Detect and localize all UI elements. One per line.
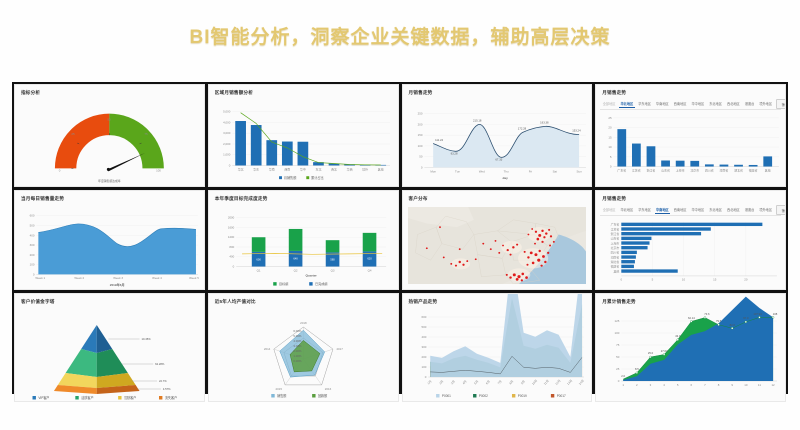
svg-text:山东省: 山东省 xyxy=(661,167,670,172)
dashboard-screenshot: BI智能分析，洞察企业关键数据，辅助高层决策 指标分析 0 25 50 75 1… xyxy=(0,0,800,430)
legend: P0001 P0002 P0019 P0017 xyxy=(436,394,566,398)
svg-text:华西: 华西 xyxy=(346,166,352,171)
svg-text:Fri: Fri xyxy=(528,169,532,173)
svg-text:华中: 华中 xyxy=(300,166,306,171)
tab-active[interactable]: 华北地区 xyxy=(619,100,635,108)
x-axis-label: Quarter xyxy=(305,273,317,277)
svg-text:江苏省: 江苏省 xyxy=(611,226,620,231)
svg-text:10: 10 xyxy=(682,278,686,282)
svg-text:0.00%: 0.00% xyxy=(293,359,301,363)
svg-text:580: 580 xyxy=(330,258,335,262)
svg-text:25.0: 25.0 xyxy=(648,351,654,355)
svg-text:上海市: 上海市 xyxy=(676,167,685,172)
svg-text:9: 9 xyxy=(732,383,734,387)
svg-text:600: 600 xyxy=(30,214,35,218)
svg-text:8: 8 xyxy=(718,383,720,387)
product-area-chart: 0 100 200 300 400 500 600 xyxy=(403,309,592,401)
dashboard-grid: 指标分析 0 25 50 75 100 年度销售额达成率 xyxy=(12,82,788,394)
tab-gangaotai[interactable]: 港澳台 xyxy=(743,206,756,214)
svg-text:境外: 境外 xyxy=(362,166,368,171)
svg-text:4: 4 xyxy=(664,383,666,387)
svg-text:3: 3 xyxy=(650,383,652,387)
panel-title: 月销售走势 xyxy=(409,90,433,96)
svg-text:2.00%: 2.00% xyxy=(293,349,301,353)
cumulative-area-chart: 0 25 50 75 100 125 xyxy=(596,309,785,401)
svg-text:6: 6 xyxy=(691,383,693,387)
panel-title: 月销售走势 xyxy=(602,90,626,96)
bars xyxy=(618,129,773,166)
xticks: 1 2 3 4 5 6 7 8 9 10 11 12 xyxy=(623,383,776,387)
svg-text:4.57%: 4.57% xyxy=(163,387,171,391)
svg-text:6月: 6月 xyxy=(484,379,490,385)
svg-text:10: 10 xyxy=(609,145,613,149)
svg-text:华北: 华北 xyxy=(237,166,243,171)
bar-value-labels: 600 640 580 620 xyxy=(256,257,372,262)
svg-text:2018: 2018 xyxy=(300,321,307,325)
tab-dongbei[interactable]: 东北地区 xyxy=(708,100,724,108)
cumulative-line xyxy=(240,113,380,165)
svg-text:6.00%: 6.00% xyxy=(293,329,301,333)
svg-text:400: 400 xyxy=(421,335,426,339)
svg-text:福建省: 福建省 xyxy=(749,167,758,172)
svg-text:172.28: 172.28 xyxy=(517,126,526,130)
panel-title: 客户价值金字塔 xyxy=(21,299,55,305)
panel-pyramid[interactable]: 客户价值金字塔 xyxy=(14,293,205,402)
panel-title: 客户分布 xyxy=(409,196,428,202)
svg-text:9月: 9月 xyxy=(519,379,525,385)
x-axis-label: 2019年6月 xyxy=(110,282,125,287)
svg-text:82.0: 82.0 xyxy=(730,323,736,327)
panel-title: 指标分析 xyxy=(21,90,40,96)
tab-gangaotai[interactable]: 港澳台 xyxy=(743,100,756,108)
svg-text:22.7%: 22.7% xyxy=(159,379,167,383)
panel-product-area[interactable]: 热销产品走势 0 100 200 300 400 500 600 xyxy=(402,293,593,402)
svg-text:Q1: Q1 xyxy=(256,268,260,272)
filter-button[interactable]: 筛选 xyxy=(776,99,786,109)
svg-text:67.33: 67.33 xyxy=(495,158,502,162)
svg-text:11月: 11月 xyxy=(542,379,549,386)
gauge-tick-100: 100 xyxy=(156,168,161,172)
tab-xibei[interactable]: 西北地区 xyxy=(726,206,742,214)
series-target xyxy=(623,297,773,381)
svg-text:东北: 东北 xyxy=(315,166,321,171)
svg-text:上海市: 上海市 xyxy=(611,240,620,245)
stacked-bars xyxy=(252,229,377,267)
region-filter-tabs[interactable]: 全部地区 华北地区 华东地区 华南地区 西南地区 华中地区 东北地区 西北地区 … xyxy=(600,99,781,110)
panel-title: 近5年人均产值对比 xyxy=(215,299,256,305)
svg-text:其他: 其他 xyxy=(614,268,620,273)
svg-text:4.00%: 4.00% xyxy=(293,339,301,343)
svg-text:2017: 2017 xyxy=(336,347,343,351)
svg-text:500: 500 xyxy=(30,224,35,228)
xticks: 广东省 江苏省 浙江省 山东省 上海市 北京市 四川省 河南省 湖北省 福建省 … xyxy=(618,167,771,172)
svg-text:500: 500 xyxy=(421,325,426,329)
svg-text:1600: 1600 xyxy=(228,225,235,229)
svg-text:1.00%: 1.00% xyxy=(293,354,301,358)
svg-text:150: 150 xyxy=(417,133,422,137)
tab-xinan[interactable]: 西南地区 xyxy=(672,100,688,108)
legend: VIP客户 活跃客户 沉默客户 流失客户 xyxy=(33,395,178,400)
tab-xibei[interactable]: 西北地区 xyxy=(726,100,742,108)
svg-text:2000: 2000 xyxy=(228,216,235,220)
svg-text:广东省: 广东省 xyxy=(618,167,627,172)
svg-text:200: 200 xyxy=(30,253,35,257)
panel-title: 区域月销售额分析 xyxy=(215,90,253,96)
x-axis-label: day xyxy=(502,176,508,180)
svg-text:3月: 3月 xyxy=(449,379,455,385)
svg-text:Week 2: Week 2 xyxy=(74,276,84,280)
svg-text:107.94: 107.94 xyxy=(754,312,763,316)
svg-text:4月: 4月 xyxy=(461,379,467,385)
svg-text:0: 0 xyxy=(618,379,620,383)
svg-text:73.6: 73.6 xyxy=(705,312,711,316)
svg-text:200: 200 xyxy=(417,122,422,126)
week-area-chart: 0 100 200 300 400 500 600 Week 1 Week 2 … xyxy=(15,206,204,289)
svg-text:97.0: 97.0 xyxy=(743,316,749,320)
svg-text:湖北省: 湖北省 xyxy=(611,259,620,264)
svg-text:15: 15 xyxy=(609,135,613,139)
tab-huazhong[interactable]: 华中地区 xyxy=(690,100,706,108)
china-scatter-map[interactable] xyxy=(408,207,587,284)
panel-region-pareto[interactable]: 区域月销售额分析 0 1,000 2,000 3,000 4,000 5,000 xyxy=(208,84,399,187)
svg-text:2016: 2016 xyxy=(325,387,332,391)
svg-text:10月: 10月 xyxy=(531,379,538,386)
gauge-tick-75: 75 xyxy=(144,132,148,136)
svg-text:P0017: P0017 xyxy=(556,394,565,398)
panel-city-bars[interactable]: 月销售走势 全部地区 华北地区 华东地区 华南地区 西南地区 华中地区 东北地区… xyxy=(595,84,786,187)
svg-text:7月: 7月 xyxy=(496,379,502,385)
svg-text:620: 620 xyxy=(367,257,372,261)
svg-text:100: 100 xyxy=(30,263,35,267)
ytick: 1,000 xyxy=(223,153,231,157)
tab-all[interactable]: 全部地区 xyxy=(601,100,617,108)
svg-text:0: 0 xyxy=(424,375,426,379)
svg-text:累计占比: 累计占比 xyxy=(311,175,323,180)
svg-text:月销售额: 月销售额 xyxy=(284,175,297,180)
svg-text:8月: 8月 xyxy=(508,379,514,385)
svg-text:15: 15 xyxy=(713,278,717,282)
tab-huadong[interactable]: 华东地区 xyxy=(637,206,653,214)
svg-text:山东省: 山东省 xyxy=(611,236,620,241)
svg-text:75: 75 xyxy=(616,343,620,347)
svg-text:2月: 2月 xyxy=(438,379,444,385)
panel-title: 月累计销售走势 xyxy=(602,299,636,305)
ytick: 0 xyxy=(229,163,231,167)
tab-xinan[interactable]: 西南地区 xyxy=(672,206,688,214)
gauge-tick-0: 0 xyxy=(59,168,61,172)
svg-text:10.45%: 10.45% xyxy=(141,337,151,341)
xticks: 1月 2月 3月 4月 5月 6月 7月 8月 9月 10月 11月 12月 1… xyxy=(426,379,584,386)
tab-huazhong[interactable]: 华中地区 xyxy=(690,206,706,214)
quarter-stacked-chart: 0 400 800 1200 1600 2000 xyxy=(209,206,398,289)
svg-text:1: 1 xyxy=(623,383,625,387)
panel-week-area[interactable]: 当月每日销售量走势 0 100 200 300 400 500 600 xyxy=(14,190,205,290)
svg-text:Thu: Thu xyxy=(503,169,508,173)
svg-text:华东: 华东 xyxy=(253,166,259,171)
svg-text:100: 100 xyxy=(421,365,426,369)
svg-text:VIP客户: VIP客户 xyxy=(38,395,49,400)
svg-text:西南: 西南 xyxy=(284,166,290,171)
svg-text:0: 0 xyxy=(621,278,623,282)
panel-gauge[interactable]: 指标分析 0 25 50 75 100 年度销售额达成率 xyxy=(14,84,205,187)
svg-text:其他: 其他 xyxy=(765,167,771,172)
svg-text:3.00%: 3.00% xyxy=(293,344,301,348)
svg-text:50: 50 xyxy=(419,155,423,159)
svg-text:640: 640 xyxy=(293,257,298,261)
svg-text:Week 3: Week 3 xyxy=(113,276,123,280)
svg-text:沉默客户: 沉默客户 xyxy=(124,395,136,400)
svg-text:Q2: Q2 xyxy=(293,268,297,272)
gauge-tick-50: 50 xyxy=(107,118,111,122)
ytick: 3,000 xyxy=(223,131,231,135)
svg-text:已完成额: 已完成额 xyxy=(315,281,328,286)
svg-text:0: 0 xyxy=(232,265,234,269)
filter-button[interactable]: 筛选 xyxy=(776,205,786,215)
svg-text:2014: 2014 xyxy=(264,347,271,351)
radar-chart: 6.00% 5.00% 4.00% 3.00% 2.00% 1.00% 0.00… xyxy=(209,309,398,401)
tab-dongbei[interactable]: 东北地区 xyxy=(708,206,724,214)
svg-text:回款额: 回款额 xyxy=(318,393,328,398)
svg-text:25: 25 xyxy=(616,367,620,371)
svg-text:浙江省: 浙江省 xyxy=(611,231,620,236)
svg-text:Q3: Q3 xyxy=(330,268,334,272)
svg-text:Tue: Tue xyxy=(455,169,460,173)
svg-text:2: 2 xyxy=(636,383,638,387)
panel-customer-map[interactable]: 客户分布 xyxy=(402,190,593,290)
svg-text:5月: 5月 xyxy=(473,379,479,385)
svg-text:四川省: 四川省 xyxy=(705,167,714,172)
radial-ticks: 6.00% 5.00% 4.00% 3.00% 2.00% 1.00% 0.00… xyxy=(293,329,301,363)
xticks: 0 5 10 15 20 xyxy=(621,278,748,282)
svg-text:Q4: Q4 xyxy=(367,268,371,272)
svg-text:62.14: 62.14 xyxy=(688,316,695,320)
svg-text:400: 400 xyxy=(30,233,35,237)
svg-text:200: 200 xyxy=(421,355,426,359)
ytick: 2,000 xyxy=(223,142,231,146)
svg-text:P0002: P0002 xyxy=(478,394,487,398)
legend: 销售额 回款额 xyxy=(271,393,328,398)
svg-text:广东省: 广东省 xyxy=(611,222,620,227)
legend: 目标额 已完成额 xyxy=(273,281,328,286)
svg-text:125: 125 xyxy=(615,319,620,323)
svg-text:Sat: Sat xyxy=(552,169,557,173)
bars xyxy=(235,121,386,165)
tab-huanan[interactable]: 华南地区 xyxy=(655,100,671,108)
gauge-label: 年度销售额达成率 xyxy=(98,179,121,183)
svg-text:江苏省: 江苏省 xyxy=(632,167,641,172)
svg-text:北京市: 北京市 xyxy=(691,167,700,172)
svg-text:流失客户: 流失客户 xyxy=(165,395,177,400)
svg-text:目标额: 目标额 xyxy=(279,281,289,286)
svg-text:其他: 其他 xyxy=(378,166,384,171)
svg-text:12: 12 xyxy=(772,383,776,387)
svg-text:300: 300 xyxy=(30,243,35,247)
panel-province-hbar[interactable]: 月销售走势 全部地区 华北地区 华东地区 华南地区 西南地区 华中地区 东北地区… xyxy=(595,190,786,290)
trend-line-chart: 0 50 100 150 200 250 111.24 93.28 215.18… xyxy=(403,100,592,186)
svg-text:250: 250 xyxy=(417,112,422,116)
panel-cumulative[interactable]: 月累计销售走势 0 25 50 75 100 125 xyxy=(595,293,786,402)
svg-text:活跃客户: 活跃客户 xyxy=(81,395,93,400)
svg-text:600: 600 xyxy=(256,258,261,262)
svg-text:600: 600 xyxy=(421,315,426,319)
svg-text:10: 10 xyxy=(744,383,748,387)
svg-text:108: 108 xyxy=(773,312,778,316)
svg-text:12月: 12月 xyxy=(554,379,561,386)
xticks: Mon Tue Wed Thu Fri Sat Sun xyxy=(430,169,582,173)
panel-title: 热销产品走势 xyxy=(409,299,438,305)
svg-text:福建省: 福建省 xyxy=(611,264,620,269)
svg-text:111.24: 111.24 xyxy=(435,138,443,142)
svg-text:浙江省: 浙江省 xyxy=(647,167,656,172)
xticks: 华北 华东 华南 西南 华中 东北 西北 华西 境外 其他 xyxy=(237,166,383,171)
svg-text:Mon: Mon xyxy=(430,169,436,173)
svg-text:50: 50 xyxy=(616,355,620,359)
svg-text:43.0: 43.0 xyxy=(675,334,681,338)
tab-all[interactable]: 全部地区 xyxy=(601,206,617,214)
city-bar-chart: 0 5 10 15 20 25 xyxy=(596,112,785,186)
svg-text:Sun: Sun xyxy=(576,169,582,173)
svg-text:西北: 西北 xyxy=(331,166,337,171)
svg-text:11: 11 xyxy=(758,383,761,387)
ytick: 5,000 xyxy=(223,110,231,114)
svg-text:20: 20 xyxy=(744,278,748,282)
svg-text:Week 5: Week 5 xyxy=(189,276,199,280)
tab-huabei[interactable]: 华北地区 xyxy=(619,206,635,214)
svg-text:14月: 14月 xyxy=(577,379,584,386)
svg-text:153.24: 153.24 xyxy=(572,128,581,132)
panel-radar[interactable]: 近5年人均产值对比 xyxy=(208,293,399,402)
xticks: Q1 Q2 Q3 Q4 xyxy=(256,268,371,272)
svg-text:100: 100 xyxy=(417,144,422,148)
svg-text:1月: 1月 xyxy=(426,379,432,385)
svg-text:河南省: 河南省 xyxy=(611,254,620,259)
svg-text:2015: 2015 xyxy=(275,387,282,391)
svg-text:27.64: 27.64 xyxy=(661,349,668,353)
svg-text:Wed: Wed xyxy=(478,169,484,173)
svg-text:5: 5 xyxy=(652,278,654,282)
pareto-chart: 0 1,000 2,000 3,000 4,000 5,000 xyxy=(209,100,398,186)
svg-text:5: 5 xyxy=(610,155,612,159)
tab-jingwai[interactable]: 境外地区 xyxy=(758,100,774,108)
panel-quarter-stack[interactable]: 本年季度目标完成度走势 0 400 800 1200 1600 2000 xyxy=(208,190,399,290)
svg-text:5.00%: 5.00% xyxy=(293,334,301,338)
svg-text:13月: 13月 xyxy=(566,379,573,386)
gauge-tick-25: 25 xyxy=(71,132,75,136)
province-hbar-chart: 广东省 江苏省 浙江省 山东省 上海市 北京市 四川省 河南省 湖北省 福建省 … xyxy=(596,218,785,289)
hbars xyxy=(622,223,763,273)
svg-text:800: 800 xyxy=(229,245,234,249)
svg-text:河南省: 河南省 xyxy=(720,167,729,172)
region-filter-tabs[interactable]: 全部地区 华北地区 华东地区 华南地区 西南地区 华中地区 东北地区 西北地区 … xyxy=(600,205,781,216)
svg-text:25: 25 xyxy=(609,116,613,120)
panel-month-trend[interactable]: 月销售走势 0 50 100 150 200 250 xyxy=(402,84,593,187)
tab-jingwai[interactable]: 境外地区 xyxy=(758,206,774,214)
tab-active[interactable]: 华南地区 xyxy=(655,206,671,214)
svg-text:93.28: 93.28 xyxy=(450,152,457,156)
ytick: 4,000 xyxy=(223,120,231,124)
svg-text:Week 4: Week 4 xyxy=(152,276,162,280)
week-area xyxy=(38,224,196,274)
svg-text:四川省: 四川省 xyxy=(611,250,620,255)
panel-title: 月销售走势 xyxy=(602,196,626,202)
svg-text:华南: 华南 xyxy=(269,166,275,171)
svg-text:1200: 1200 xyxy=(228,235,235,239)
page-title: BI智能分析，洞察企业关键数据，辅助高层决策 xyxy=(0,22,800,49)
svg-text:北京市: 北京市 xyxy=(611,245,620,250)
tab-huadong[interactable]: 华东地区 xyxy=(637,100,653,108)
svg-text:P0001: P0001 xyxy=(441,394,450,398)
svg-text:193.38: 193.38 xyxy=(540,120,549,124)
svg-text:62.28%: 62.28% xyxy=(155,362,165,366)
svg-text:7: 7 xyxy=(704,383,706,387)
svg-text:100: 100 xyxy=(615,331,620,335)
panel-title: 当月每日销售量走势 xyxy=(21,196,64,202)
svg-text:P0019: P0019 xyxy=(517,394,526,398)
svg-text:215.18: 215.18 xyxy=(473,118,482,122)
legend: 月销售额 累计占比 xyxy=(279,175,324,180)
svg-text:5: 5 xyxy=(677,383,679,387)
svg-text:8.5: 8.5 xyxy=(635,367,639,371)
svg-text:2.0: 2.0 xyxy=(622,374,626,378)
gauge-chart: 0 25 50 75 100 年度销售额达成率 xyxy=(15,100,204,186)
svg-text:300: 300 xyxy=(421,345,426,349)
svg-text:0: 0 xyxy=(610,164,612,168)
svg-text:79.5: 79.5 xyxy=(716,319,722,323)
panel-title: 本年季度目标完成度走势 xyxy=(215,196,268,202)
series-p0001 xyxy=(430,293,582,377)
xticks: Week 1 Week 2 Week 3 Week 4 Week 5 xyxy=(35,276,199,280)
svg-text:销售额: 销售额 xyxy=(277,393,287,398)
pyramid-chart: 10.45% 62.28% 22.7% 4.57% VIP客户 活跃客户 沉默客… xyxy=(15,309,204,401)
svg-text:20: 20 xyxy=(609,126,613,130)
svg-text:0: 0 xyxy=(420,165,422,169)
svg-text:Week 1: Week 1 xyxy=(35,276,45,280)
svg-text:湖北省: 湖北省 xyxy=(734,167,743,172)
svg-text:400: 400 xyxy=(229,255,234,259)
ycats: 广东省 江苏省 浙江省 山东省 上海市 北京市 四川省 河南省 湖北省 福建省 … xyxy=(611,222,620,274)
